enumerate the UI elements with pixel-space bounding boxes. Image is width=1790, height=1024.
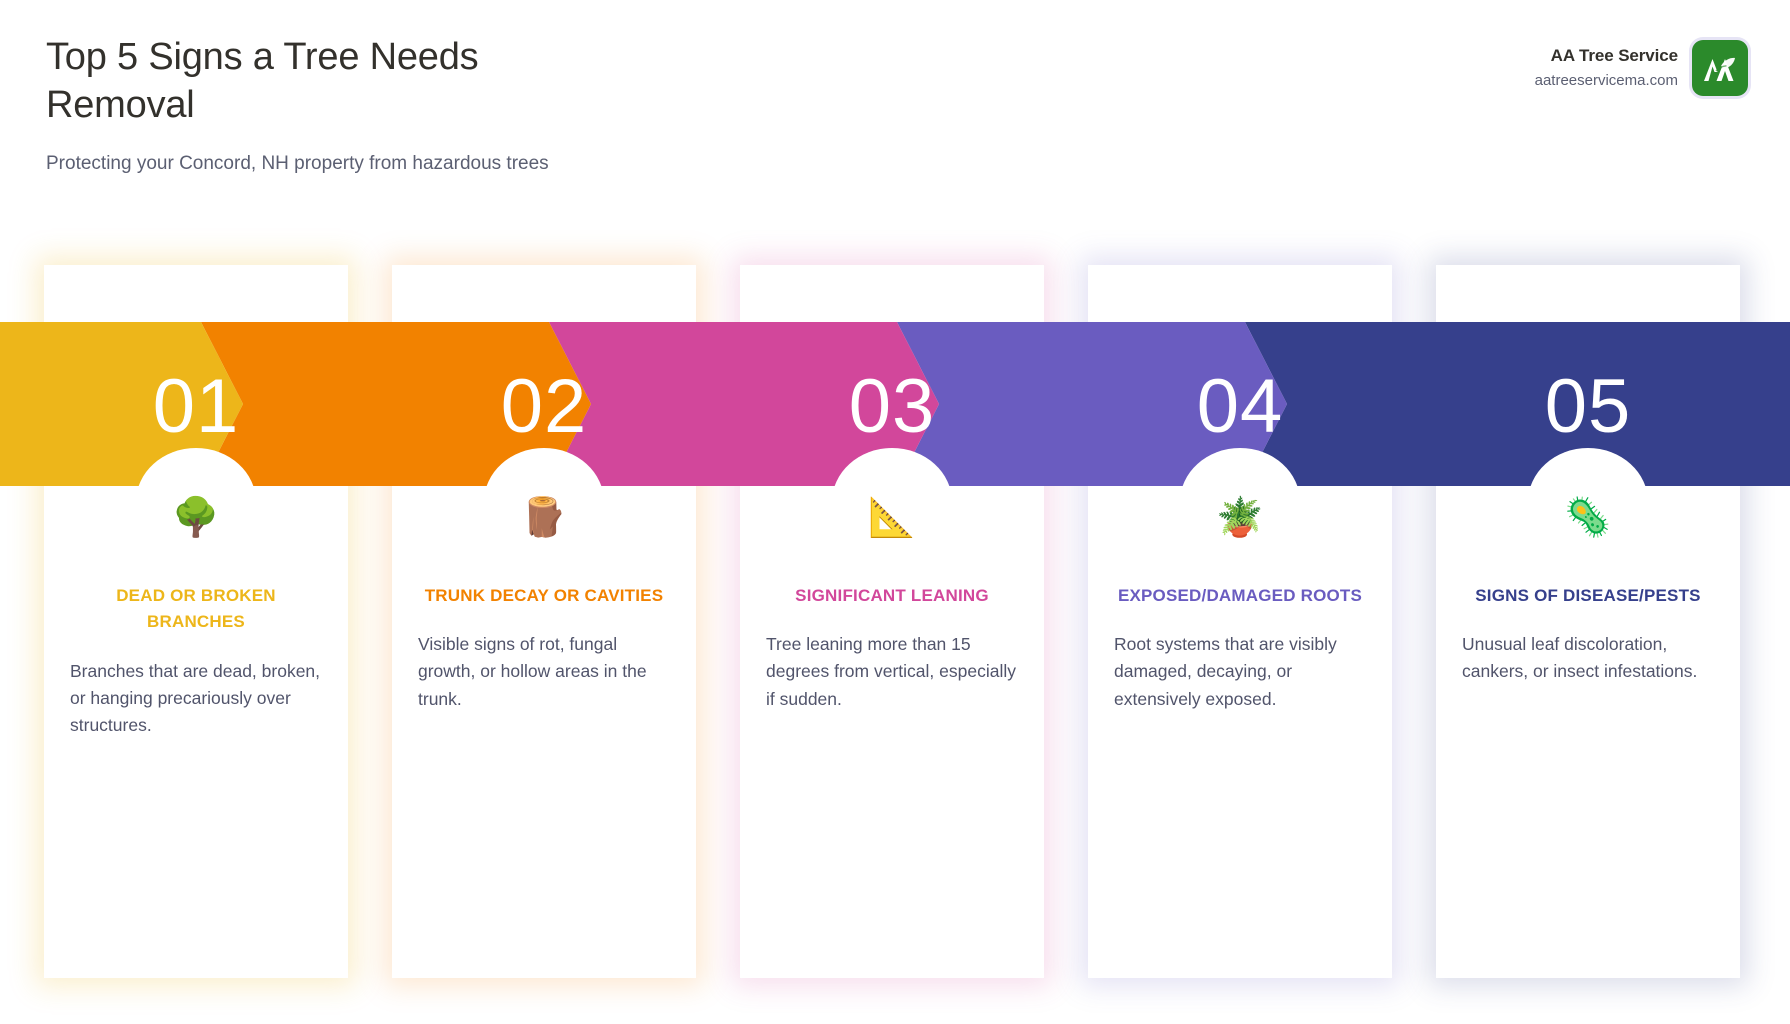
card-description: Tree leaning more than 15 degrees from v… [764, 631, 1020, 712]
cards-row: 🌳 DEAD OR BROKEN BRANCHES Branches that … [0, 0, 1790, 1024]
card-heading: SIGNS OF DISEASE/PESTS [1460, 583, 1716, 609]
card-body: 🌳 DEAD OR BROKEN BRANCHES Branches that … [44, 495, 348, 739]
card-body: 🪵 TRUNK DECAY OR CAVITIES Visible signs … [392, 495, 696, 713]
card-body: 🦠 SIGNS OF DISEASE/PESTS Unusual leaf di… [1436, 495, 1740, 686]
card-05[interactable]: 🦠 SIGNS OF DISEASE/PESTS Unusual leaf di… [1436, 265, 1740, 978]
card-04[interactable]: 🪴 EXPOSED/DAMAGED ROOTS Root systems tha… [1088, 265, 1392, 978]
triangular-ruler-icon: 📐 [764, 495, 1020, 541]
logs-icon: 🪵 [416, 495, 672, 541]
card-heading: SIGNIFICANT LEANING [764, 583, 1020, 609]
card-01[interactable]: 🌳 DEAD OR BROKEN BRANCHES Branches that … [44, 265, 348, 978]
tree-icon: 🌳 [68, 495, 324, 541]
infographic-page: Top 5 Signs a Tree Needs Removal Protect… [0, 0, 1790, 1024]
card-description: Unusual leaf discoloration, cankers, or … [1460, 631, 1716, 685]
card-03[interactable]: 📐 SIGNIFICANT LEANING Tree leaning more … [740, 265, 1044, 978]
microbe-icon: 🦠 [1460, 495, 1716, 541]
card-body: 🪴 EXPOSED/DAMAGED ROOTS Root systems tha… [1088, 495, 1392, 713]
card-heading: EXPOSED/DAMAGED ROOTS [1112, 583, 1368, 609]
card-heading: DEAD OR BROKEN BRANCHES [68, 583, 324, 636]
card-description: Branches that are dead, broken, or hangi… [68, 658, 324, 739]
card-body: 📐 SIGNIFICANT LEANING Tree leaning more … [740, 495, 1044, 713]
card-description: Visible signs of rot, fungal growth, or … [416, 631, 672, 712]
card-description: Root systems that are visibly damaged, d… [1112, 631, 1368, 712]
potted-plant-icon: 🪴 [1112, 495, 1368, 541]
card-heading: TRUNK DECAY OR CAVITIES [416, 583, 672, 609]
card-02[interactable]: 🪵 TRUNK DECAY OR CAVITIES Visible signs … [392, 265, 696, 978]
